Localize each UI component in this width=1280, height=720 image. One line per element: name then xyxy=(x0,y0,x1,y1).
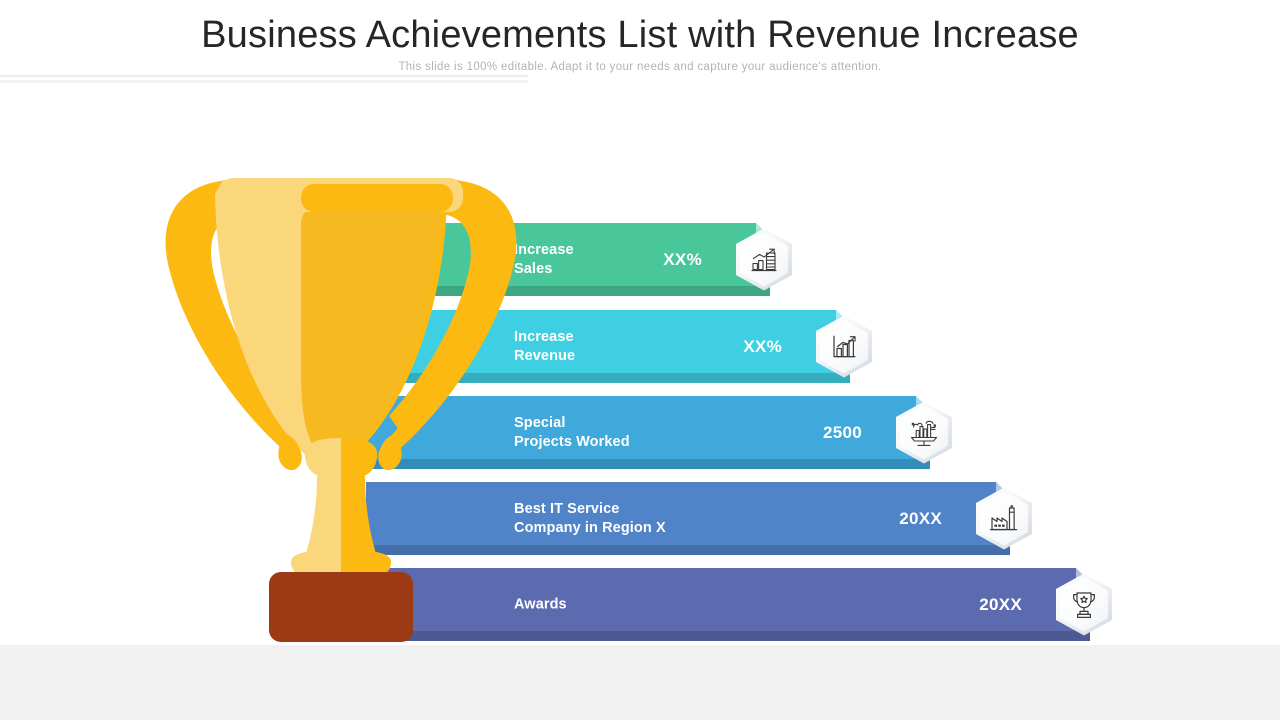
bar-icon-badge[interactable] xyxy=(816,316,872,378)
bar-value: XX% xyxy=(743,337,782,357)
bar-icon-badge[interactable] xyxy=(976,488,1032,550)
bar-value: 20XX xyxy=(899,509,942,529)
bar-value: 20XX xyxy=(979,595,1022,615)
bar-label: Special Projects Worked xyxy=(514,414,630,452)
factory-chimney-icon xyxy=(976,488,1032,550)
bar-chart-arrow-icon xyxy=(816,316,872,378)
slide-canvas: Business Achievements List with Revenue … xyxy=(0,0,1280,720)
bar-label: Best IT Service Company in Region X xyxy=(514,500,666,538)
bar-icon-badge[interactable] xyxy=(896,402,952,464)
bar-value: XX% xyxy=(663,250,702,270)
bar-icon-badge[interactable] xyxy=(736,229,792,291)
factory-industry-icon xyxy=(896,402,952,464)
bar-chart-growth-icon xyxy=(736,229,792,291)
bar-icon-badge[interactable] xyxy=(1056,574,1112,636)
bar-value: 2500 xyxy=(823,423,862,443)
trophy-icon xyxy=(1056,574,1112,636)
trophy-illustration xyxy=(155,158,527,644)
